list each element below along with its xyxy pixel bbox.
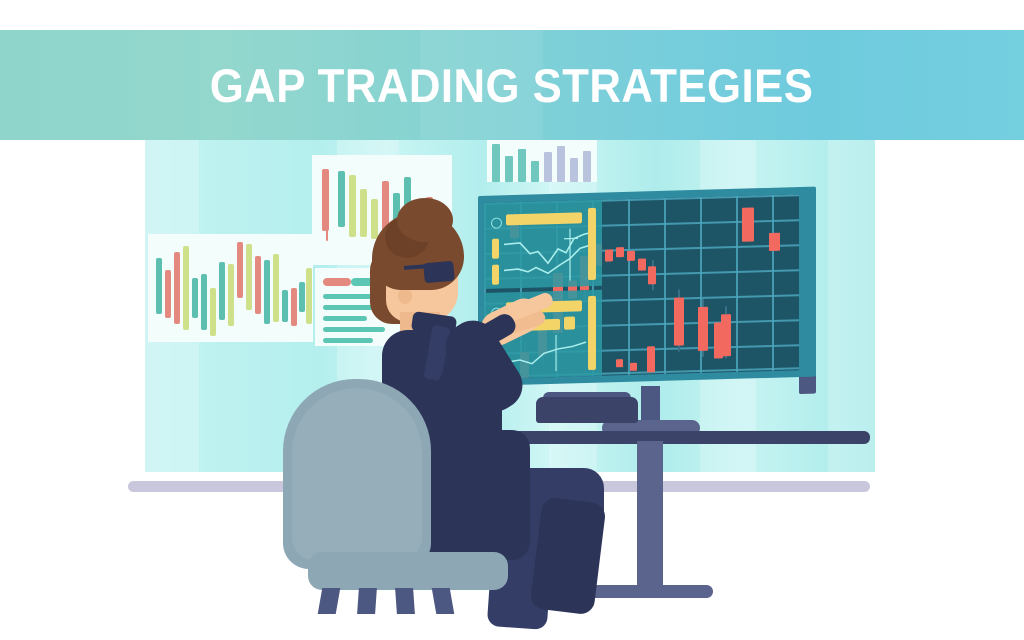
candlestick [338,171,345,227]
text-line [323,316,367,321]
desk-foot [585,585,713,598]
candlestick [721,314,731,356]
candlestick [282,290,288,322]
candlestick-wick [326,221,328,241]
candlestick [630,363,637,371]
candlestick [648,266,656,284]
text-line [323,338,373,343]
chair-leg [357,588,377,614]
overlay-marker [492,239,499,259]
candlestick [616,247,624,257]
bar [570,158,578,182]
bar [492,144,500,182]
candlestick [165,270,171,318]
candlestick [192,278,198,318]
overlay-marker [492,265,499,285]
candlestick [228,264,234,326]
candlestick [698,307,708,351]
wall-panel-left-candlestick-chart [148,234,313,342]
bar [518,149,526,182]
bar [531,161,539,182]
candlestick [183,246,189,330]
candlestick [291,288,297,326]
overlay-cursor-marker [564,316,575,329]
candlestick [273,254,279,322]
bar [544,152,552,182]
candlestick [219,262,225,320]
circle-icon [491,217,502,228]
candlestick [174,252,180,324]
chair-leg [318,588,341,614]
chair-back-inner [292,388,422,560]
text-line [323,327,385,332]
monitor-screen [484,194,799,379]
overlay-scale-bar [588,296,596,370]
glasses-icon [423,261,455,284]
candlestick [246,244,252,310]
desk-leg [637,441,663,591]
wall-panel-bar-chart [487,140,597,182]
candlestick [299,282,305,312]
bar [505,156,513,182]
candlestick [201,274,207,330]
candlestick [371,199,378,239]
monitor-overlay-panel-top [484,200,602,289]
candlestick [647,346,655,372]
text-header-accent [323,278,351,286]
candlestick [210,288,216,336]
bar [583,151,591,182]
candlestick [237,242,243,298]
bar [557,146,565,182]
overlay-bar [506,212,582,225]
title-banner: GAP TRADING STRATEGIES [0,30,1024,140]
page-title: GAP TRADING STRATEGIES [210,58,814,113]
candlestick [627,251,635,261]
candlestick [306,268,312,324]
candlestick [360,189,367,237]
desk-top [494,431,870,444]
overlay-scale-bar [588,208,596,280]
illustration-canvas: GAP TRADING STRATEGIES [0,0,1024,640]
wall-stripe [828,100,875,472]
hair-bun [397,198,453,242]
candlestick [616,359,623,367]
candlestick [255,256,261,314]
candlestick [674,297,684,345]
candlestick [264,260,270,324]
candlestick [156,258,162,314]
chair-leg [395,588,415,614]
candlestick [605,249,613,261]
person-shin [529,497,606,616]
ear [398,288,412,304]
candlestick [742,207,754,241]
overlay-line-chart [504,228,596,287]
candlestick [769,233,780,251]
candlestick [349,175,356,237]
candlestick [638,258,646,270]
chair-leg [432,588,455,614]
chair-seat [308,552,508,590]
keyboard [536,397,638,423]
